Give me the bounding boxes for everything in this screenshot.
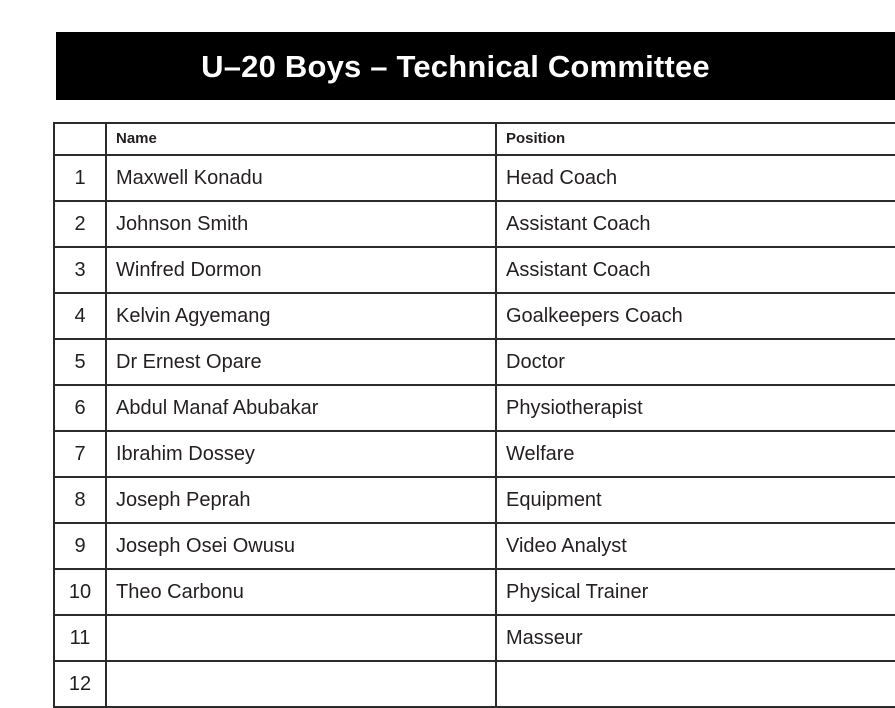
title-banner: U–20 Boys – Technical Committee [56,32,895,100]
table-body: 1 Maxwell Konadu Head Coach 2 Johnson Sm… [54,155,895,707]
table-row: 10 Theo Carbonu Physical Trainer [54,569,895,615]
row-position: Masseur [496,615,895,661]
row-name: Dr Ernest Opare [106,339,496,385]
column-header-index [54,123,106,155]
row-name: Winfred Dormon [106,247,496,293]
page-title: U–20 Boys – Technical Committee [201,51,710,82]
row-index: 11 [54,615,106,661]
row-position: Equipment [496,477,895,523]
table-row: 11 Masseur [54,615,895,661]
row-name: Maxwell Konadu [106,155,496,201]
row-position: Goalkeepers Coach [496,293,895,339]
row-name: Abdul Manaf Abubakar [106,385,496,431]
row-index: 2 [54,201,106,247]
row-position: Physiotherapist [496,385,895,431]
row-position: Welfare [496,431,895,477]
row-name [106,615,496,661]
table-row: 6 Abdul Manaf Abubakar Physiotherapist [54,385,895,431]
row-name: Theo Carbonu [106,569,496,615]
row-name: Kelvin Agyemang [106,293,496,339]
row-index: 8 [54,477,106,523]
row-position: Doctor [496,339,895,385]
table-row: 4 Kelvin Agyemang Goalkeepers Coach [54,293,895,339]
row-index: 6 [54,385,106,431]
table-row: 7 Ibrahim Dossey Welfare [54,431,895,477]
row-position: Head Coach [496,155,895,201]
row-position: Video Analyst [496,523,895,569]
row-index: 7 [54,431,106,477]
table-row: 3 Winfred Dormon Assistant Coach [54,247,895,293]
table-header-row: Name Position [54,123,895,155]
table-row: 5 Dr Ernest Opare Doctor [54,339,895,385]
row-index: 4 [54,293,106,339]
table-row: 1 Maxwell Konadu Head Coach [54,155,895,201]
page-root: U–20 Boys – Technical Committee Name Pos… [0,0,895,694]
row-position: Assistant Coach [496,201,895,247]
row-index: 5 [54,339,106,385]
row-index: 9 [54,523,106,569]
table-row: 2 Johnson Smith Assistant Coach [54,201,895,247]
row-index: 3 [54,247,106,293]
column-header-name: Name [106,123,496,155]
table-row: 12 [54,661,895,707]
row-position: Assistant Coach [496,247,895,293]
row-index: 10 [54,569,106,615]
row-index: 12 [54,661,106,707]
row-name: Joseph Peprah [106,477,496,523]
technical-committee-table: Name Position 1 Maxwell Konadu Head Coac… [53,122,895,708]
row-name: Johnson Smith [106,201,496,247]
row-name: Ibrahim Dossey [106,431,496,477]
row-position: Physical Trainer [496,569,895,615]
row-position [496,661,895,707]
table-row: 8 Joseph Peprah Equipment [54,477,895,523]
table-header: Name Position [54,123,895,155]
row-name [106,661,496,707]
column-header-position: Position [496,123,895,155]
table-row: 9 Joseph Osei Owusu Video Analyst [54,523,895,569]
row-index: 1 [54,155,106,201]
row-name: Joseph Osei Owusu [106,523,496,569]
